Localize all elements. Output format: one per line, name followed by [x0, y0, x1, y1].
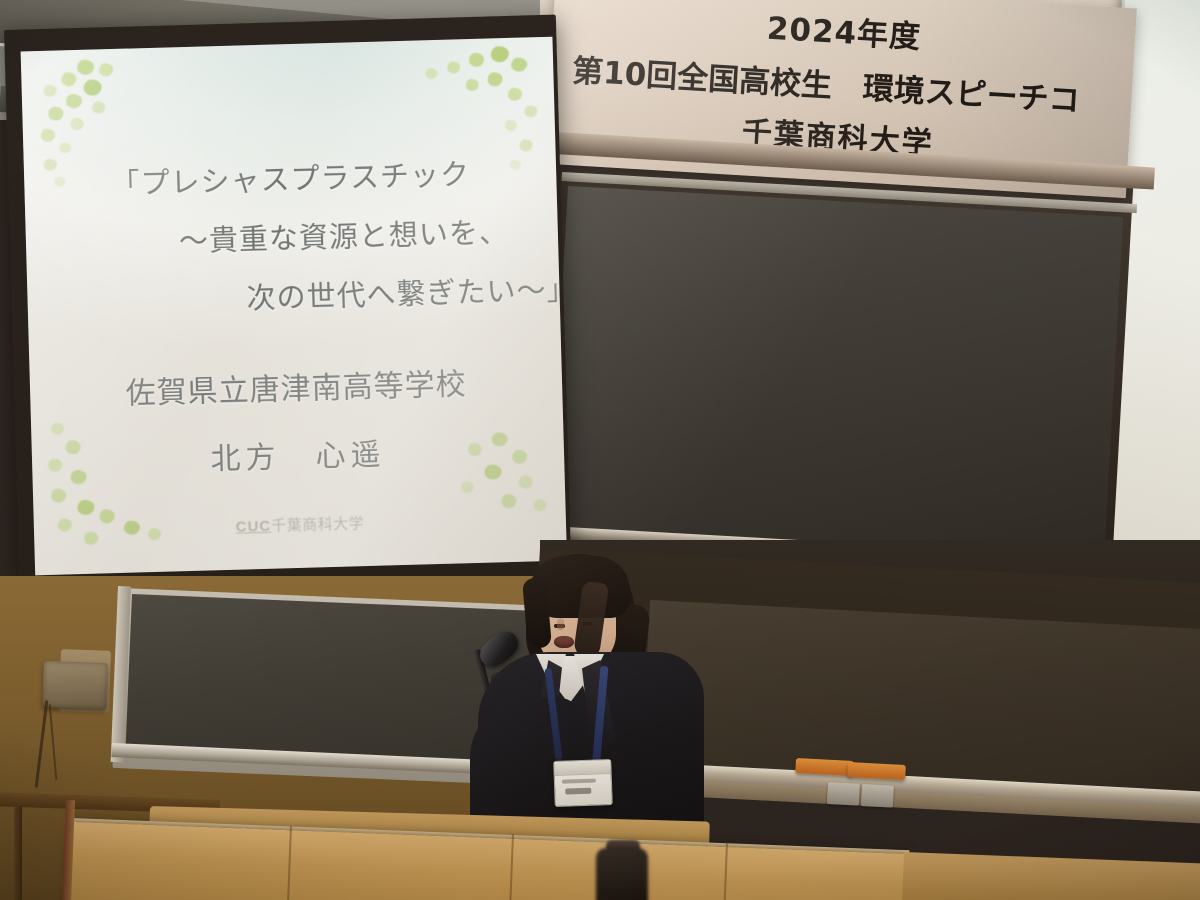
cuc-logo: CUC千葉商科大学 — [34, 507, 566, 543]
camera-body — [596, 848, 648, 900]
cuc-logo-mark: CUC — [235, 518, 271, 536]
projection-screen-left: 「プレシャスプラスチック ～貴重な資源と想いを、 次の世代へ繋ぎたい～」 佐賀県… — [4, 15, 571, 590]
photo-scene: 2024年度 第10回全国高校生 環境スピーチコ 千葉商科大学 — [0, 0, 1200, 900]
blackboard-glare — [548, 186, 1123, 568]
slide-presenter-name: 北方 心遥 — [31, 425, 564, 484]
desk-right-section — [902, 852, 1200, 900]
badge-text-line-1 — [562, 779, 596, 784]
side-table-leg-left — [14, 806, 22, 900]
nose — [557, 618, 564, 630]
rail-clip-1 — [827, 782, 860, 806]
slide-title-line-2: ～貴重な資源と想いを、 — [25, 206, 567, 264]
slide-title-line-1: 「プレシャスプラスチック — [24, 149, 557, 206]
cuc-logo-text: 千葉商科大学 — [271, 515, 364, 535]
slide-text-block: 「プレシャスプラスチック ～貴重な資源と想いを、 次の世代へ繋ぎたい～」 佐賀県… — [21, 37, 567, 576]
rail-clip-2 — [861, 784, 894, 808]
blackboard-eraser-1 — [795, 758, 854, 776]
badge-text-line-2 — [565, 788, 591, 795]
blackboard-eraser-2 — [847, 762, 906, 780]
badge-header-strip — [554, 760, 610, 776]
mouth — [554, 636, 574, 648]
slide-school-name: 佐賀県立唐津南高等学校 — [30, 357, 563, 416]
blackboard-right — [548, 186, 1123, 568]
presentation-slide: 「プレシャスプラスチック ～貴重な資源と想いを、 次の世代へ繋ぎたい～」 佐賀県… — [21, 37, 567, 576]
wall-speaker-icon — [42, 661, 108, 709]
slide-title-line-3: 次の世代へ繋ぎたい～」 — [27, 263, 567, 323]
name-badge — [553, 759, 613, 807]
